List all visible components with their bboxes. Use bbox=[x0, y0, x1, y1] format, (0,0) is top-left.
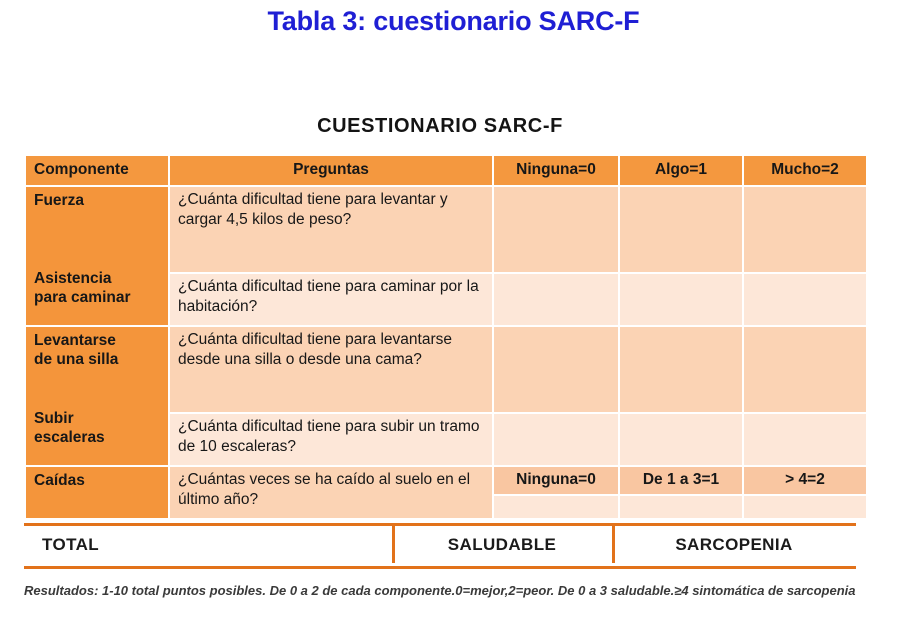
table-footer-band: TOTAL SALUDABLE SARCOPENIA bbox=[24, 523, 856, 569]
component-label-asistencia: Asistenciapara caminar bbox=[34, 269, 164, 307]
question-subir: ¿Cuánta dificultad tiene para subir un t… bbox=[170, 414, 492, 465]
component-label-caidas: Caídas bbox=[34, 472, 85, 489]
table-row: Levantarsede una silla Subirescaleras ¿C… bbox=[26, 327, 866, 412]
sarcf-figure: CUESTIONARIO SARC-F Componente Preguntas… bbox=[24, 115, 884, 569]
table-row: Fuerza Asistenciapara caminar ¿Cuánta di… bbox=[26, 187, 866, 272]
header-algo: Algo=1 bbox=[620, 156, 742, 185]
header-preguntas: Preguntas bbox=[170, 156, 492, 185]
header-componente: Componente bbox=[26, 156, 168, 185]
caidas-score-de1a3: De 1 a 3=1 bbox=[620, 467, 742, 494]
figure-note: Resultados: 1-10 total puntos posibles. … bbox=[24, 583, 904, 598]
component-label-levantarse: Levantarsede una silla bbox=[34, 331, 164, 369]
score-cell-subir-mucho[interactable] bbox=[744, 414, 866, 465]
figure-title: CUESTIONARIO SARC-F bbox=[24, 115, 856, 138]
score-cell-asistencia-algo[interactable] bbox=[620, 274, 742, 325]
caidas-score-ninguna: Ninguna=0 bbox=[494, 467, 618, 494]
score-cell-fuerza-algo[interactable] bbox=[620, 187, 742, 272]
question-fuerza: ¿Cuánta dificultad tiene para levantar y… bbox=[170, 187, 492, 272]
slide-title: Tabla 3: cuestionario SARC-F bbox=[0, 6, 907, 37]
component-label-fuerza: Fuerza bbox=[34, 192, 84, 209]
question-caidas: ¿Cuántas veces se ha caído al suelo en e… bbox=[170, 467, 492, 518]
sarcf-table: Componente Preguntas Ninguna=0 Algo=1 Mu… bbox=[24, 154, 868, 520]
header-mucho: Mucho=2 bbox=[744, 156, 866, 185]
component-fuerza-asistencia: Fuerza Asistenciapara caminar bbox=[26, 187, 168, 325]
score-cell-subir-algo[interactable] bbox=[620, 414, 742, 465]
score-cell-levantarse-algo[interactable] bbox=[620, 327, 742, 412]
score-cell-levantarse-mucho[interactable] bbox=[744, 327, 866, 412]
score-cell-caidas-ninguna[interactable] bbox=[494, 496, 618, 518]
footer-total: TOTAL bbox=[42, 526, 99, 563]
score-cell-asistencia-mucho[interactable] bbox=[744, 274, 866, 325]
footer-sarcopenia: SARCOPENIA bbox=[612, 526, 856, 563]
score-cell-caidas-mas4[interactable] bbox=[744, 496, 866, 518]
score-cell-fuerza-mucho[interactable] bbox=[744, 187, 866, 272]
question-asistencia: ¿Cuánta dificultad tiene para caminar po… bbox=[170, 274, 492, 325]
footer-saludable: SALUDABLE bbox=[392, 526, 612, 563]
table-row: Caídas ¿Cuántas veces se ha caído al sue… bbox=[26, 467, 866, 494]
component-levantarse-subir: Levantarsede una silla Subirescaleras bbox=[26, 327, 168, 465]
score-cell-fuerza-ninguna[interactable] bbox=[494, 187, 618, 272]
question-levantarse: ¿Cuánta dificultad tiene para levantarse… bbox=[170, 327, 492, 412]
score-cell-caidas-de1a3[interactable] bbox=[620, 496, 742, 518]
component-caidas: Caídas bbox=[26, 467, 168, 518]
header-ninguna: Ninguna=0 bbox=[494, 156, 618, 185]
score-cell-subir-ninguna[interactable] bbox=[494, 414, 618, 465]
caidas-score-mas4: > 4=2 bbox=[744, 467, 866, 494]
score-cell-asistencia-ninguna[interactable] bbox=[494, 274, 618, 325]
table-header-row: Componente Preguntas Ninguna=0 Algo=1 Mu… bbox=[26, 156, 866, 185]
component-label-subir: Subirescaleras bbox=[34, 409, 164, 447]
score-cell-levantarse-ninguna[interactable] bbox=[494, 327, 618, 412]
